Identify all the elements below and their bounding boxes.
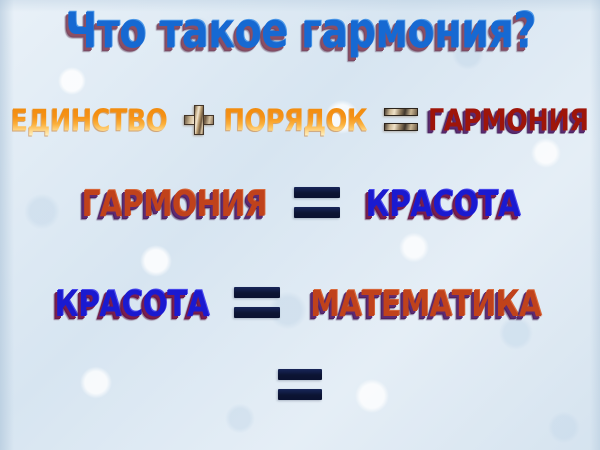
equals-sign-icon	[384, 107, 411, 133]
term-beauty: КРАСОТА	[54, 285, 208, 321]
term-beauty: КРАСОТА	[366, 185, 520, 221]
equals-sign-icon	[278, 368, 322, 402]
slide-title-row: Что такое гармония?	[0, 4, 600, 60]
plus-sign-icon	[184, 105, 208, 135]
equation-harmony-beauty: ГАРМОНИЯ КРАСОТА	[0, 181, 600, 225]
equals-sign-icon	[234, 286, 280, 320]
term-unity: ЕДИНСТВО	[11, 105, 168, 135]
equation-beauty-mathematics: КРАСОТА МАТЕМАТИКА	[0, 281, 600, 325]
equation-open-ended	[0, 365, 600, 405]
term-order: ПОРЯДОК	[223, 105, 367, 135]
equals-sign-icon	[294, 186, 340, 220]
equation-unity-order-harmony: ЕДИНСТВО ПОРЯДОК ГАРМОНИЯ	[0, 101, 600, 139]
term-mathematics: МАТЕМАТИКА	[310, 285, 541, 321]
term-harmony-result: ГАРМОНИЯ	[428, 105, 589, 135]
page-title: Что такое гармония?	[65, 7, 536, 56]
presentation-slide: Что такое гармония? ЕДИНСТВО ПОРЯДОК ГАР…	[0, 0, 600, 450]
term-harmony: ГАРМОНИЯ	[82, 185, 267, 221]
